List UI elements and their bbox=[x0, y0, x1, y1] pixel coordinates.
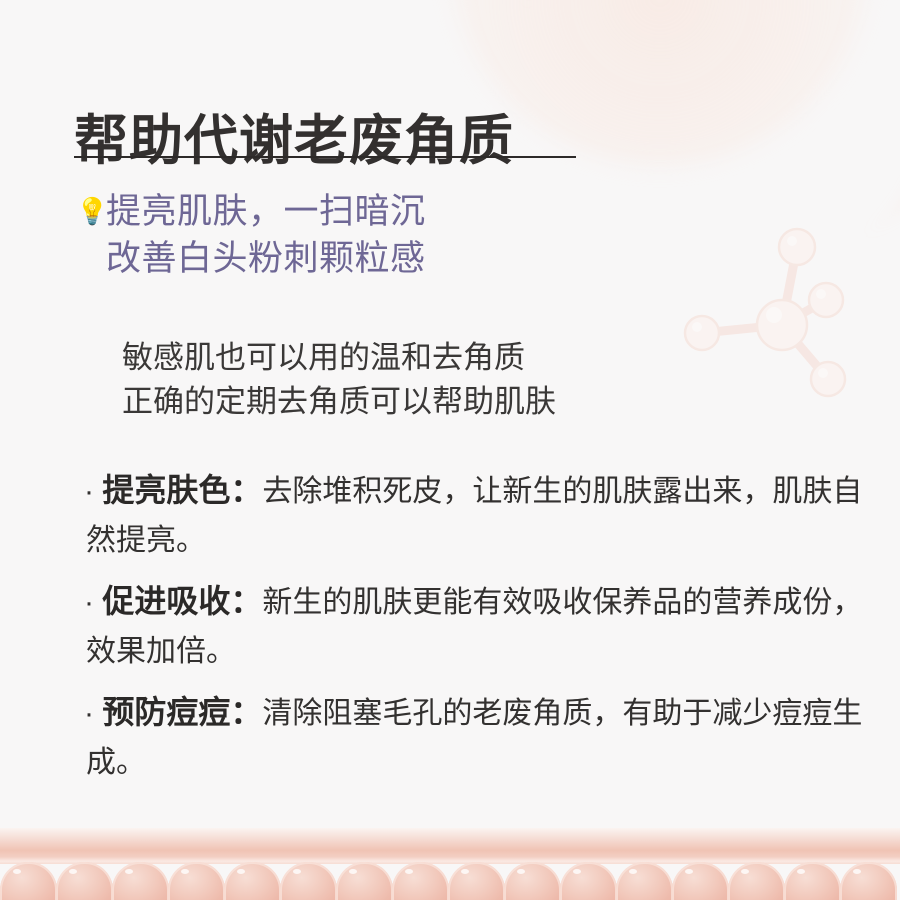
skin-cell bbox=[784, 862, 841, 900]
highlight-callout: 💡 提亮肌肤，一扫暗沉 改善白头粉刺颗粒感 bbox=[76, 188, 426, 282]
molecule-graphic bbox=[660, 205, 860, 410]
skin-cell bbox=[840, 862, 897, 900]
bullet-marker: · bbox=[84, 697, 94, 730]
highlight-line-1: 提亮肌肤，一扫暗沉 bbox=[106, 188, 426, 235]
title-divider bbox=[74, 156, 576, 158]
sub-description-line-2: 正确的定期去角质可以帮助肌肤 bbox=[122, 380, 556, 424]
skin-cell bbox=[616, 862, 673, 900]
skin-band bbox=[0, 828, 900, 864]
skin-cell bbox=[560, 862, 617, 900]
bullet-marker: · bbox=[84, 475, 94, 508]
page-title: 帮助代谢老废角质 bbox=[74, 112, 514, 170]
poster-canvas: 帮助代谢老废角质 💡 提亮肌肤，一扫暗沉 改善白头粉刺颗粒感 敏感肌也可以用的温… bbox=[0, 0, 900, 900]
skin-cell-row bbox=[0, 862, 900, 900]
skin-cell bbox=[56, 862, 113, 900]
skin-cell bbox=[504, 862, 561, 900]
skin-cell bbox=[112, 862, 169, 900]
list-item: · 提亮肤色：去除堆积死皮，让新生的肌肤露出来，肌肤自然提亮。 bbox=[86, 466, 876, 565]
sub-description: 敏感肌也可以用的温和去角质 正确的定期去角质可以帮助肌肤 bbox=[122, 336, 556, 424]
skin-cell bbox=[168, 862, 225, 900]
highlight-line-2: 改善白头粉刺颗粒感 bbox=[106, 235, 426, 282]
bullet-label: 促进吸收： bbox=[102, 583, 262, 619]
skin-cell bbox=[280, 862, 337, 900]
skin-cell bbox=[392, 862, 449, 900]
pink-blob-graphic bbox=[525, 0, 900, 260]
lightbulb-icon: 💡 bbox=[76, 188, 106, 234]
bullet-label: 预防痘痘： bbox=[102, 694, 262, 730]
bullet-label: 提亮肤色： bbox=[102, 472, 262, 508]
skin-cell bbox=[728, 862, 785, 900]
list-item: · 促进吸收：新生的肌肤更能有效吸收保养品的营养成份，效果加倍。 bbox=[86, 577, 876, 676]
skin-cell bbox=[0, 862, 57, 900]
bullet-marker: · bbox=[84, 586, 94, 619]
skin-cell bbox=[672, 862, 729, 900]
highlight-text: 提亮肌肤，一扫暗沉 改善白头粉刺颗粒感 bbox=[106, 188, 426, 282]
list-item: · 预防痘痘：清除阻塞毛孔的老废角质，有助于减少痘痘生成。 bbox=[86, 688, 876, 787]
benefit-list: · 提亮肤色：去除堆积死皮，让新生的肌肤露出来，肌肤自然提亮。 · 促进吸收：新… bbox=[86, 466, 876, 799]
sub-description-line-1: 敏感肌也可以用的温和去角质 bbox=[122, 336, 556, 380]
skin-cell-texture-strip bbox=[0, 828, 900, 900]
skin-cell bbox=[448, 862, 505, 900]
skin-cell bbox=[224, 862, 281, 900]
skin-cell bbox=[336, 862, 393, 900]
